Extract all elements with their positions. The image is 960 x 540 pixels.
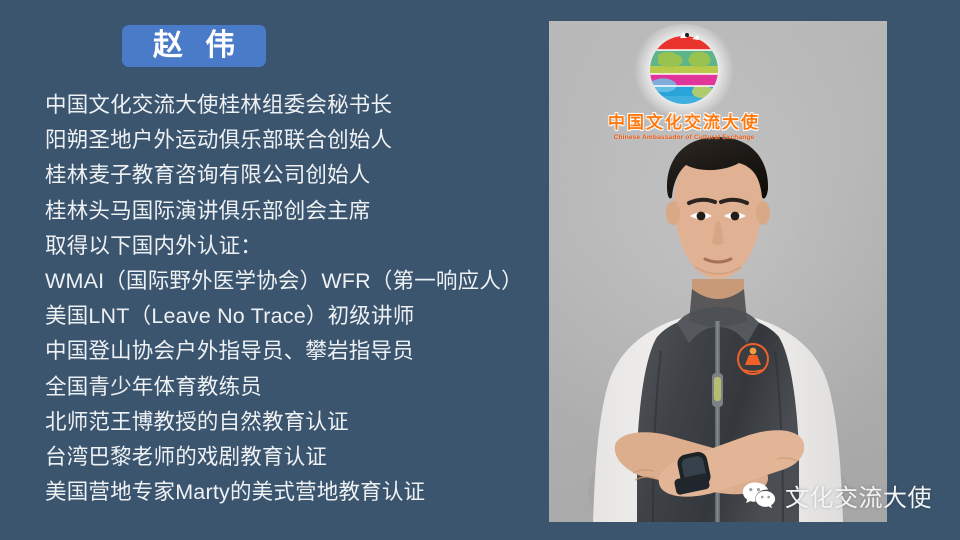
bio-line: 全国青少年体育教练员 [45, 370, 515, 405]
bio-line: 美国LNT（Leave No Trace）初级讲师 [45, 299, 515, 334]
bio-line: 取得以下国内外认证： [45, 229, 515, 264]
bio-line: 桂林麦子教育咨询有限公司创始人 [45, 158, 515, 193]
bio-list: 中国文化交流大使桂林组委会秘书长 阳朔圣地户外运动俱乐部联合创始人 桂林麦子教育… [45, 88, 515, 510]
bio-line: WMAI（国际野外医学协会）WFR（第一响应人） [45, 264, 515, 299]
vest-chest-logo [736, 342, 770, 376]
brand-logo: 中国文化交流大使 Chinese Ambassador of Cultural … [589, 29, 779, 159]
globe-icon [634, 29, 734, 111]
name-badge: 赵 伟 [122, 25, 266, 67]
bio-line: 阳朔圣地户外运动俱乐部联合创始人 [45, 123, 515, 158]
portrait-photo: 中国文化交流大使 Chinese Ambassador of Cultural … [549, 21, 887, 522]
bio-line: 台湾巴黎老师的戏剧教育认证 [45, 440, 515, 475]
bio-panel: 赵 伟 中国文化交流大使桂林组委会秘书长 阳朔圣地户外运动俱乐部联合创始人 桂林… [0, 0, 540, 540]
bio-line: 北师范王博教授的自然教育认证 [45, 405, 515, 440]
brand-subtitle-en: Chinese Ambassador of Cultural Exchange [589, 134, 779, 141]
bio-line: 中国文化交流大使桂林组委会秘书长 [45, 88, 515, 123]
bio-line: 中国登山协会户外指导员、攀岩指导员 [45, 334, 515, 369]
bio-line: 桂林头马国际演讲俱乐部创会主席 [45, 194, 515, 229]
profile-slide: 赵 伟 中国文化交流大使桂林组委会秘书长 阳朔圣地户外运动俱乐部联合创始人 桂林… [0, 0, 960, 540]
bio-line: 美国营地专家Marty的美式营地教育认证 [45, 475, 515, 510]
person-name: 赵 伟 [146, 31, 242, 61]
